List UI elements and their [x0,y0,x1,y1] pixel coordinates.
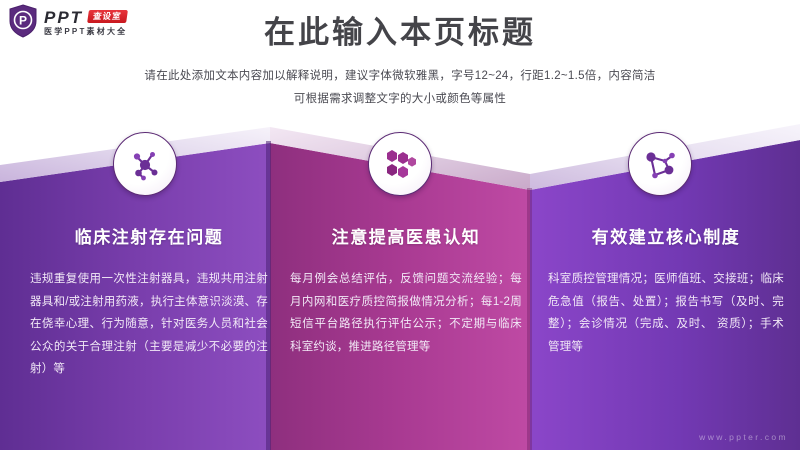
svg-text:P: P [19,14,27,28]
molecule-icon-badge [113,132,177,196]
column-2: 注意提高医患认知 每月例会总结评估，反馈问题交流经验；每月内网和医疗质控简报做情… [290,228,522,358]
column-3: 有效建立核心制度 科室质控管理情况；医师值班、交接班；临床危急值（报告、处置）；… [548,228,784,358]
share-network-icon-badge [628,132,692,196]
column-1: 临床注射存在问题 违规重复使用一次性注射器具，违规共用注射器具和/或注射用药液，… [30,228,268,381]
subtitle-line-1: 请在此处添加文本内容加以解释说明，建议字体微软雅黑，字号12~24，行距1.2~… [0,65,800,87]
column-2-heading: 注意提高医患认知 [290,228,522,248]
column-3-heading: 有效建立核心制度 [548,228,784,248]
logo-brand-text: PPT [44,9,83,26]
molecule-icon [128,147,162,181]
brand-logo: P PPT 查设室 医学PPT素材大全 [8,4,127,38]
logo-badge: 查设室 [87,10,127,23]
column-2-body: 每月例会总结评估，反馈问题交流经验；每月内网和医疗质控简报做情况分析；每1-2周… [290,268,522,358]
share-network-icon [643,148,677,180]
slide-canvas: P PPT 查设室 医学PPT素材大全 在此输入本页标题 请在此处添加文本内容加… [0,0,800,450]
page-subtitle: 请在此处添加文本内容加以解释说明，建议字体微软雅黑，字号12~24，行距1.2~… [0,65,800,110]
subtitle-line-2: 可根据需求调整文字的大小或颜色等属性 [0,88,800,110]
hexagon-cluster-icon-badge [368,132,432,196]
column-3-body: 科室质控管理情况；医师值班、交接班；临床危急值（报告、处置）；报告书写（及时、完… [548,268,784,358]
footer-watermark: www.ppter.com [699,432,788,442]
column-1-body: 违规重复使用一次性注射器具，违规共用注射器具和/或注射用药液，执行主体意识淡漠、… [30,268,268,380]
hexagon-cluster-icon [383,148,417,180]
column-1-heading: 临床注射存在问题 [30,228,268,248]
logo-tagline: 医学PPT素材大全 [44,28,127,36]
shield-icon: P [8,4,38,38]
